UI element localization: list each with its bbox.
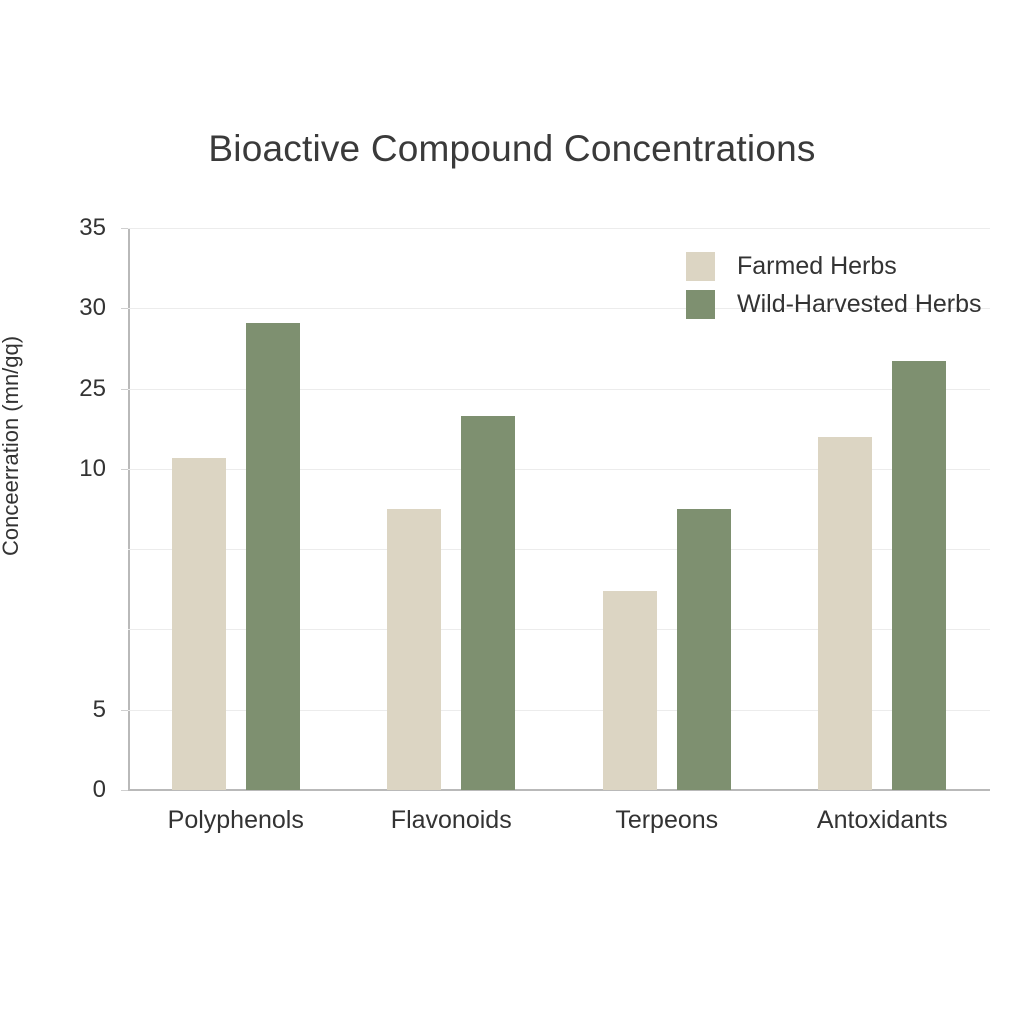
y-tick-mark: [121, 469, 128, 470]
legend-swatch-icon: [686, 290, 715, 319]
legend-item[interactable]: Farmed Herbs: [686, 248, 982, 284]
y-tick-mark: [121, 228, 128, 229]
y-tick-mark: [121, 710, 128, 711]
bar-antoxidants-farmed-herbs[interactable]: [818, 437, 872, 790]
y-axis-title: Conceerration (mn/gq): [0, 136, 24, 556]
bar-terpeons-wild-harvested-herbs[interactable]: [677, 509, 731, 790]
x-category-label: Polyphenols: [168, 806, 304, 835]
gridline: [128, 228, 990, 229]
bar-antoxidants-wild-harvested-herbs[interactable]: [892, 361, 946, 790]
x-category-label: Terpeons: [615, 806, 718, 835]
bar-polyphenols-farmed-herbs[interactable]: [172, 458, 226, 790]
y-tick-mark: [121, 790, 128, 791]
bar-flavonoids-farmed-herbs[interactable]: [387, 509, 441, 790]
y-tick-mark: [121, 308, 128, 309]
x-category-label: Flavonoids: [391, 806, 512, 835]
y-tick-label: 0: [0, 776, 106, 804]
y-tick-label: 5: [0, 696, 106, 724]
chart-legend: Farmed HerbsWild-Harvested Herbs: [686, 248, 982, 324]
chart-canvas: Bioactive Compound Concentrations 353025…: [0, 0, 1024, 1024]
legend-label: Farmed Herbs: [737, 252, 897, 281]
bar-flavonoids-wild-harvested-herbs[interactable]: [461, 416, 515, 790]
legend-swatch-icon: [686, 252, 715, 281]
chart-title: Bioactive Compound Concentrations: [0, 128, 1024, 170]
bar-terpeons-farmed-herbs[interactable]: [603, 591, 657, 790]
bar-polyphenols-wild-harvested-herbs[interactable]: [246, 323, 300, 790]
legend-item[interactable]: Wild-Harvested Herbs: [686, 286, 982, 322]
x-category-label: Antoxidants: [817, 806, 948, 835]
legend-label: Wild-Harvested Herbs: [737, 290, 982, 319]
y-tick-mark: [121, 389, 128, 390]
